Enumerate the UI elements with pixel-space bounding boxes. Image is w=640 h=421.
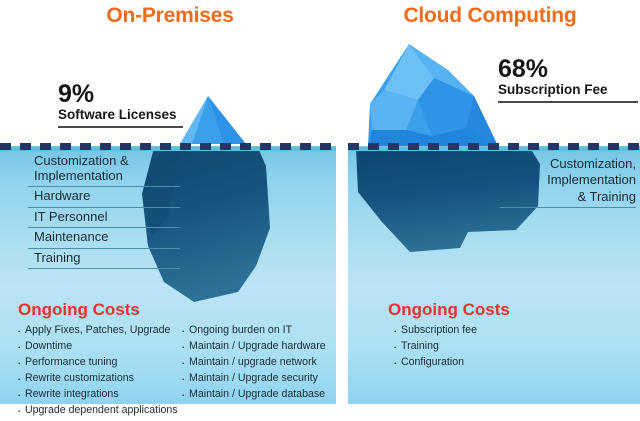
underwater-label-text: Customization & Implementation xyxy=(34,154,180,183)
list-item: Training xyxy=(392,338,477,354)
callout-rule-left xyxy=(58,126,183,128)
list-item: Downtime xyxy=(16,338,178,354)
list-item: Maintain / upgrade network xyxy=(180,354,326,370)
underwater-label-text: Training xyxy=(34,251,180,266)
waterline-dashes-right xyxy=(348,143,640,150)
column-title-on-premises: On-Premises xyxy=(0,4,340,28)
list-item: Maintain / Upgrade security xyxy=(180,370,326,386)
list-item: Performance tuning xyxy=(16,354,178,370)
list-item: Subscription fee xyxy=(392,322,477,338)
waterline-dashes-left xyxy=(0,143,336,150)
callout-subscription-fee: 68% Subscription Fee xyxy=(498,57,638,103)
underwater-label-text: Hardware xyxy=(34,189,180,204)
list-item: Rewrite integrations xyxy=(16,386,178,402)
callout-rule-right xyxy=(498,101,638,103)
list-item: Upgrade dependent applications xyxy=(16,402,178,418)
infographic-canvas: On-Premises Cloud Computing xyxy=(0,0,640,421)
list-item: Configuration xyxy=(392,354,477,370)
underwater-label-rule xyxy=(500,207,636,209)
ongoing-costs-list-left-b: Ongoing burden on IT Maintain / Upgrade … xyxy=(180,322,326,402)
underwater-label-text: Customization, Implementation & Training xyxy=(500,156,636,205)
list-item: Rewrite customizations xyxy=(16,370,178,386)
underwater-labels-left: Customization & Implementation Hardware … xyxy=(28,152,180,269)
ongoing-costs-heading-left: Ongoing Costs xyxy=(18,300,140,320)
list-item: Apply Fixes, Patches, Upgrade xyxy=(16,322,178,338)
underwater-label-row: Hardware xyxy=(28,187,180,208)
underwater-label-text: IT Personnel xyxy=(34,210,180,225)
underwater-label-row: Training xyxy=(28,249,180,270)
percent-value-left: 9% xyxy=(58,82,183,107)
ongoing-costs-list-left-a: Apply Fixes, Patches, Upgrade Downtime P… xyxy=(16,322,178,419)
waterline-right xyxy=(348,143,640,151)
underwater-label-row: Customization & Implementation xyxy=(28,152,180,187)
percent-caption-right: Subscription Fee xyxy=(498,82,638,99)
callout-software-licenses: 9% Software Licenses xyxy=(58,82,183,128)
list-item: Maintain / Upgrade database xyxy=(180,386,326,402)
waterline-left xyxy=(0,143,336,151)
percent-caption-left: Software Licenses xyxy=(58,107,183,124)
underwater-label-row: IT Personnel xyxy=(28,208,180,229)
underwater-label-row: Maintenance xyxy=(28,228,180,249)
column-title-cloud-computing: Cloud Computing xyxy=(340,4,640,28)
underwater-label-text: Maintenance xyxy=(34,230,180,245)
list-item: Ongoing burden on IT xyxy=(180,322,326,338)
ongoing-costs-list-right: Subscription fee Training Configuration xyxy=(392,322,477,370)
ongoing-costs-heading-right: Ongoing Costs xyxy=(388,300,510,320)
percent-value-right: 68% xyxy=(498,57,638,82)
underwater-labels-right: Customization, Implementation & Training xyxy=(500,156,636,208)
list-item: Maintain / Upgrade hardware xyxy=(180,338,326,354)
